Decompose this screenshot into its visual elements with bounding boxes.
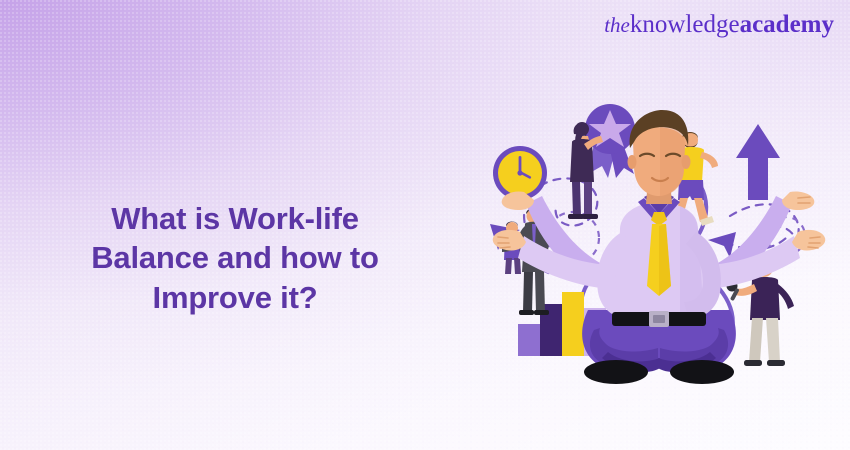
foot-right <box>670 360 734 384</box>
hand-upper-right <box>782 191 814 210</box>
award-badge-figure <box>568 104 635 219</box>
headline-line-3: Improve it? <box>0 278 470 318</box>
headline-line-2: Balance and how to <box>0 238 470 278</box>
work-life-balance-illustration <box>468 96 850 396</box>
brand-logo[interactable]: theknowledgeacademy <box>604 12 834 37</box>
headline-line-1: What is Work-life <box>0 199 470 239</box>
logo-knowledge: knowledge <box>630 11 740 38</box>
logo-the: the <box>604 13 630 37</box>
banner-root: theknowledgeacademy What is Work-life Ba… <box>0 0 850 450</box>
foot-left <box>584 360 648 384</box>
logo-academy: academy <box>740 11 834 38</box>
up-arrow-icon <box>736 124 780 200</box>
page-title: What is Work-life Balance and how to Imp… <box>0 199 470 318</box>
